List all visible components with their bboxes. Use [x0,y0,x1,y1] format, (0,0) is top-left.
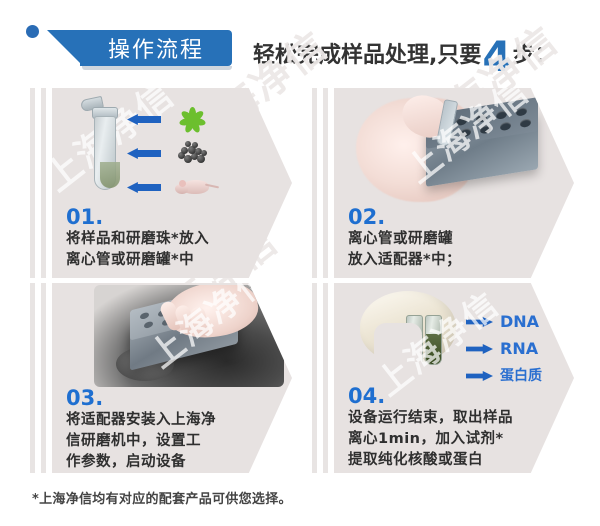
card-body: 上海净信 02. 离心管或研磨罐 放入适配器*中； [334,88,574,278]
step-description: 将适配器安装入上海净 信研磨机中，设置工 作参数，启动设备 [66,410,292,473]
right-arrow-icon [466,317,493,327]
output-label: 蛋白质 [500,365,542,387]
ribbon-shadow [82,66,232,70]
card-accent-bar [41,283,46,473]
output-label: RNA [500,338,538,360]
mouse-icon [175,176,215,198]
step-description: 设备运行结束，取出样品 离心1min，加入试剂* 提取纯化核酸或蛋白 [348,408,574,471]
sample-vial-icon [425,315,442,365]
left-arrow-icon [127,182,161,193]
card-accent-bar [312,283,317,473]
card-accent-bar [323,88,328,278]
step-04-photo [352,289,482,393]
card-accent-bar [312,88,317,278]
input-row-plant [127,106,257,132]
right-arrow-icon [466,344,493,354]
input-row-beads [127,140,257,166]
bullet-dot-icon [26,25,39,38]
steps-grid: 上海净信 [0,84,600,484]
card-accent-bar [323,283,328,473]
glove-gap [374,323,422,367]
headline-step-count: 4 [482,40,511,74]
step-description: 将样品和研磨珠*放入 离心管或研磨罐*中 [66,229,292,271]
card-accent-bar [41,88,46,278]
step-description: 离心管或研磨罐 放入适配器*中； [348,229,574,271]
step-card-01[interactable]: 上海净信 [30,88,292,278]
centrifuge-tube-icon [90,98,116,190]
step-number: 01. [66,205,103,229]
page-header: 操作流程 轻松完成样品处理,只要 4 步： [0,0,600,84]
leaf-icon [177,105,207,133]
headline: 轻松完成样品处理,只要 4 步： [253,27,557,71]
step-number: 03. [66,386,103,410]
card-body: 上海净信 [52,88,292,278]
section-tag-label: 操作流程 [108,32,204,64]
step-card-04[interactable]: DNA RNA 蛋白质 上海净信 04. 设备运行结束，取出样品 离心1min，… [312,283,574,473]
step-card-02[interactable]: 上海净信 02. 离心管或研磨罐 放入适配器*中； [312,88,574,278]
section-tag: 操作流程 [80,30,232,66]
step-card-03[interactable]: 上海净信 03. 将适配器安装入上海净 信研磨机中，设置工 作参数，启动设备 [30,283,292,473]
step-03-photo [94,285,284,387]
headline-suffix: 步： [513,41,557,71]
step-number: 02. [348,205,385,229]
left-arrow-icon [127,114,161,125]
card-accent-bar [30,88,35,278]
step-02-photo [354,92,550,204]
card-accent-bar [30,283,35,473]
step-number: 04. [348,384,385,408]
right-arrow-icon [466,371,493,381]
card-body: DNA RNA 蛋白质 上海净信 04. 设备运行结束，取出样品 离心1min，… [334,283,574,473]
output-row-rna: RNA [466,338,574,360]
footer-note: *上海净信均有对应的配套产品可供您选择。 [32,488,552,507]
step-01-illustration [52,88,292,206]
beads-icon [175,141,211,165]
card-body: 上海净信 03. 将适配器安装入上海净 信研磨机中，设置工 作参数，启动设备 [52,283,292,473]
output-label: DNA [500,311,539,333]
headline-prefix: 轻松完成样品处理,只要 [253,41,481,71]
left-arrow-icon [127,148,161,159]
input-row-animal [127,174,257,200]
output-row-dna: DNA [466,311,574,333]
output-row-protein: 蛋白质 [466,365,574,387]
